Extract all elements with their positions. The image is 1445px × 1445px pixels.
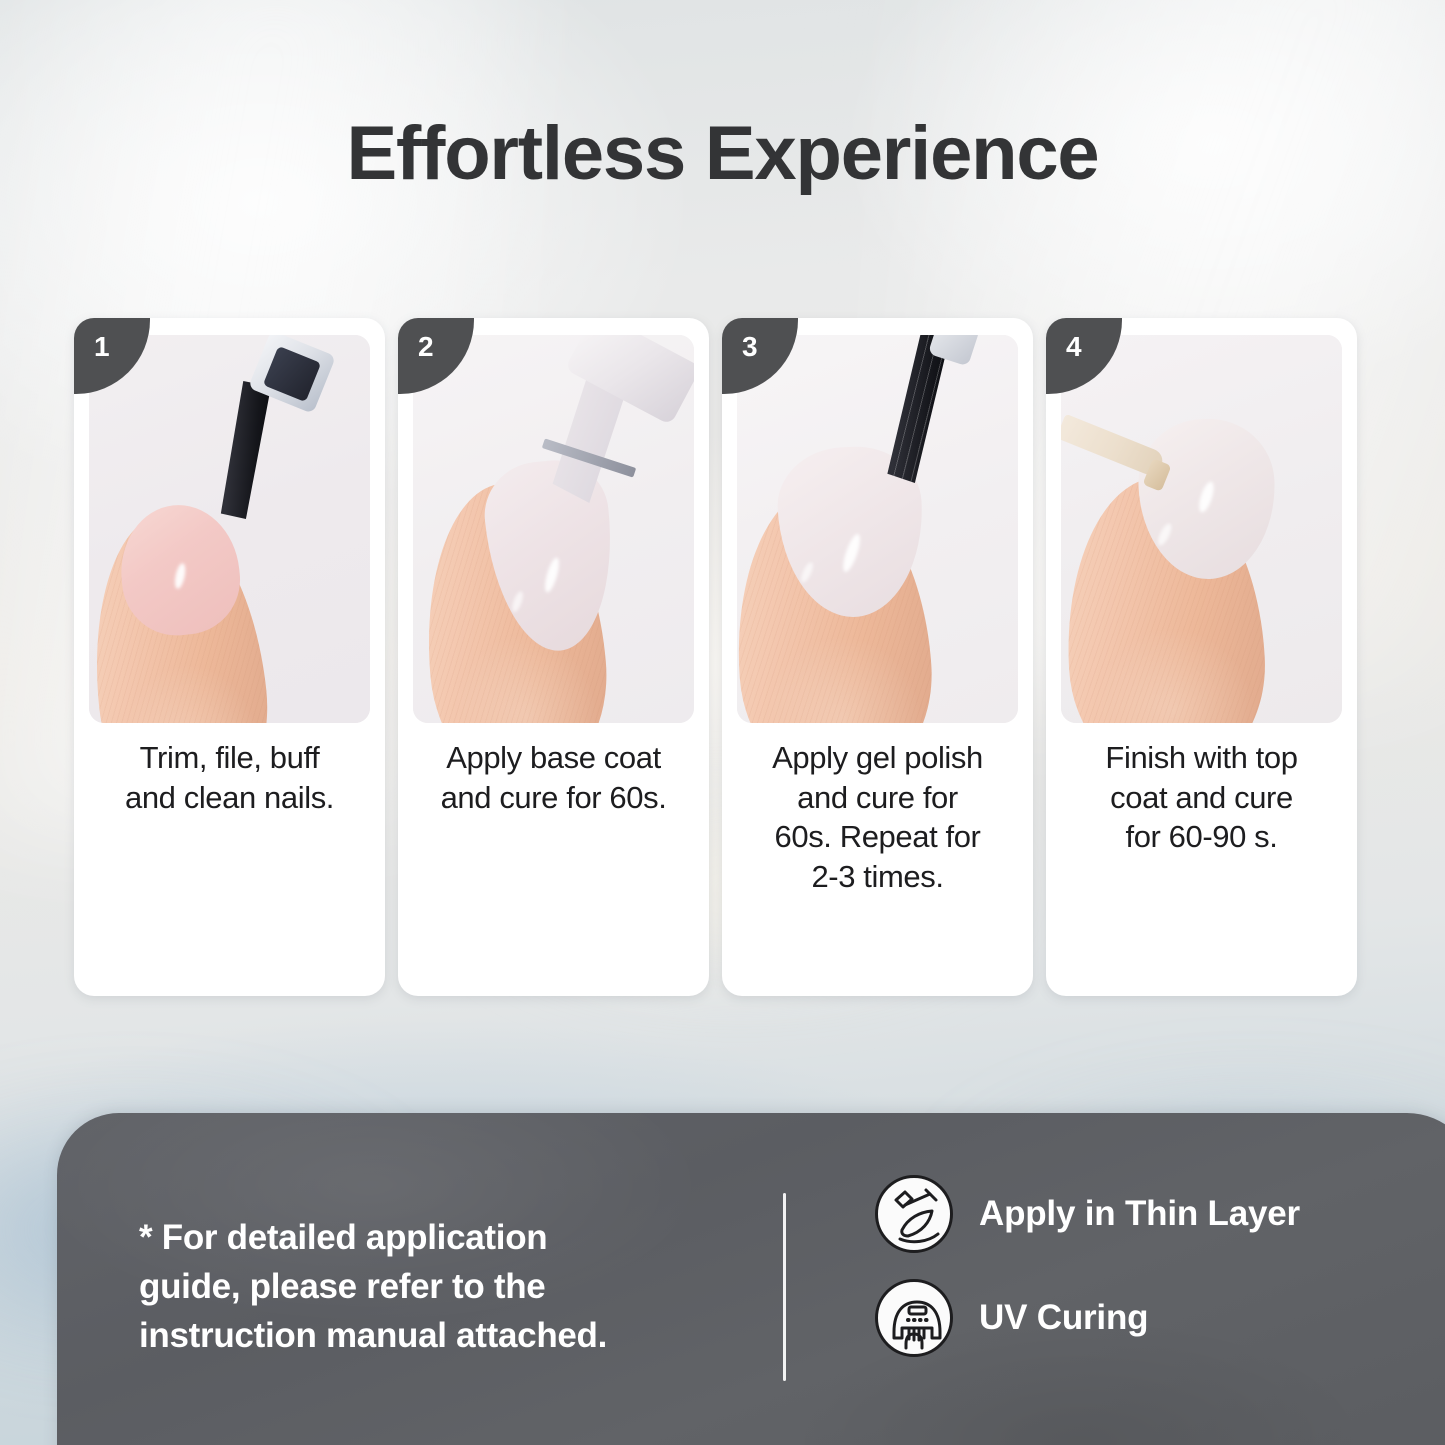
nail-highlight — [173, 562, 187, 589]
photo-illustration-3 — [737, 335, 1018, 723]
step-photo-4 — [1061, 335, 1342, 723]
feature-list: Apply in Thin Layer U — [875, 1175, 1300, 1383]
nail-highlight — [840, 532, 863, 573]
promo-page: Effortless Experience — [0, 0, 1445, 1445]
step-card-2[interactable]: 2 Apply base coat and cure for 60s. — [398, 318, 709, 996]
feature-label-thin-layer: Apply in Thin Layer — [979, 1194, 1300, 1234]
feature-apply-in-thin-layer: Apply in Thin Layer — [875, 1175, 1300, 1253]
step-photo-3 — [737, 335, 1018, 723]
step-photo-1 — [89, 335, 370, 723]
step-card-3[interactable]: 3 Apply gel polish and cure for 60s. Rep… — [722, 318, 1033, 996]
feature-uv-curing: UV Curing — [875, 1279, 1300, 1357]
step-card-1[interactable]: 1 Trim, file, buff and clean nails. — [74, 318, 385, 996]
nail-highlight — [542, 556, 562, 593]
nail-highlight — [1196, 480, 1216, 514]
footer-note: * For detailed application guide, please… — [139, 1213, 759, 1360]
step-caption-4: Finish with top coat and cure for 60-90 … — [1056, 738, 1347, 857]
photo-illustration-2 — [413, 335, 694, 723]
step-caption-3: Apply gel polish and cure for 60s. Repea… — [732, 738, 1023, 897]
step-card-4[interactable]: 4 Finish with top coat and cure for 60-9… — [1046, 318, 1357, 996]
nail-highlight-2 — [1155, 522, 1174, 548]
step-number-2: 2 — [418, 331, 434, 363]
step-number-3: 3 — [742, 331, 758, 363]
uv-lamp-curing-icon — [875, 1279, 953, 1357]
footer-vertical-divider — [783, 1193, 786, 1381]
feature-label-uv-curing: UV Curing — [979, 1298, 1148, 1338]
photo-illustration-1 — [89, 335, 370, 723]
brush-thin-layer-icon — [875, 1175, 953, 1253]
nail-highlight-2 — [799, 561, 816, 584]
photo-illustration-4 — [1061, 335, 1342, 723]
nail-highlight-2 — [510, 590, 525, 613]
page-title: Effortless Experience — [0, 116, 1445, 192]
polish-brush — [205, 381, 271, 519]
step-caption-1: Trim, file, buff and clean nails. — [84, 738, 375, 817]
step-photo-2 — [413, 335, 694, 723]
step-number-4: 4 — [1066, 331, 1082, 363]
step-number-1: 1 — [94, 331, 110, 363]
step-caption-2: Apply base coat and cure for 60s. — [408, 738, 699, 817]
footer-panel: * For detailed application guide, please… — [57, 1113, 1445, 1445]
steps-row: 1 Trim, file, buff and clean nails. — [74, 318, 1371, 996]
